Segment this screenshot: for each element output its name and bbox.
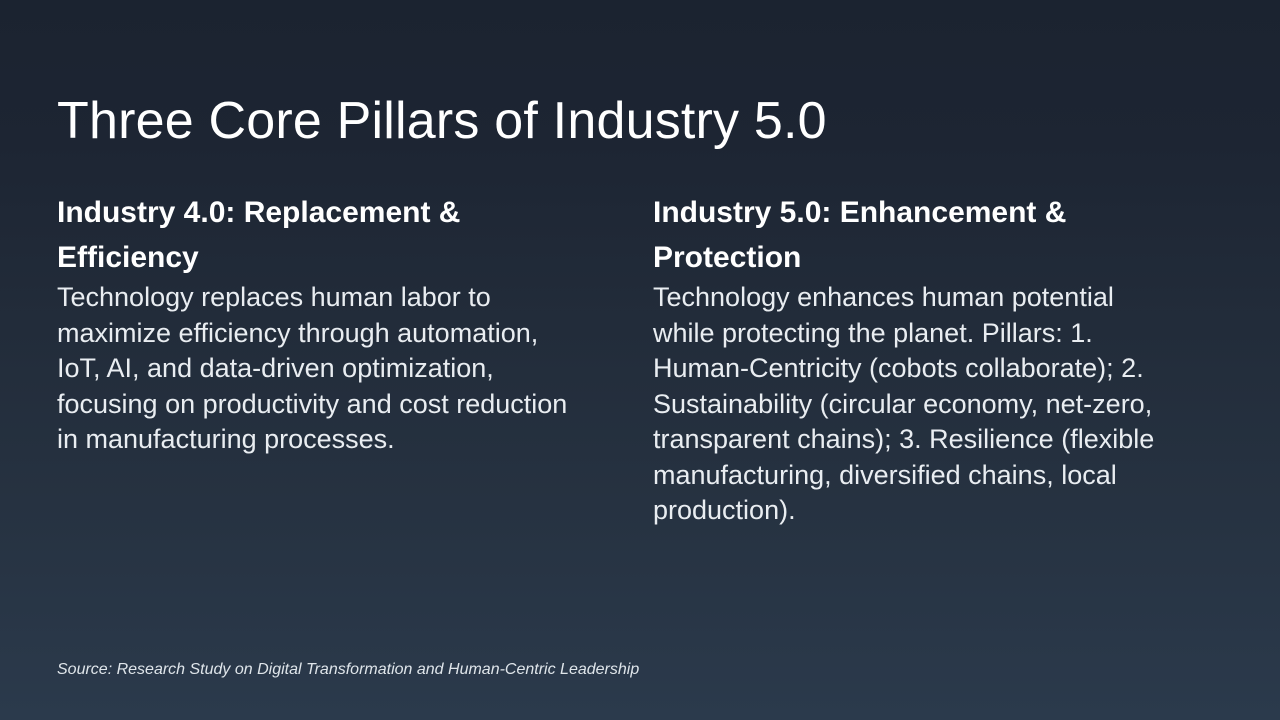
source-note: Source: Research Study on Digital Transf… (57, 659, 639, 681)
page-title: Three Core Pillars of Industry 5.0 (57, 90, 1227, 152)
column-industry-5: Industry 5.0: Enhancement & Protection T… (653, 190, 1173, 529)
column-heading-industry-5: Industry 5.0: Enhancement & Protection (653, 190, 1173, 280)
content-columns: Industry 4.0: Replacement & Efficiency T… (0, 190, 1280, 529)
column-body-industry-4: Technology replaces human labor to maxim… (57, 280, 577, 458)
column-industry-4: Industry 4.0: Replacement & Efficiency T… (57, 190, 577, 458)
column-heading-industry-4: Industry 4.0: Replacement & Efficiency (57, 190, 577, 280)
column-body-industry-5: Technology enhances human potential whil… (653, 280, 1173, 529)
slide-canvas: Three Core Pillars of Industry 5.0 Indus… (0, 0, 1280, 720)
